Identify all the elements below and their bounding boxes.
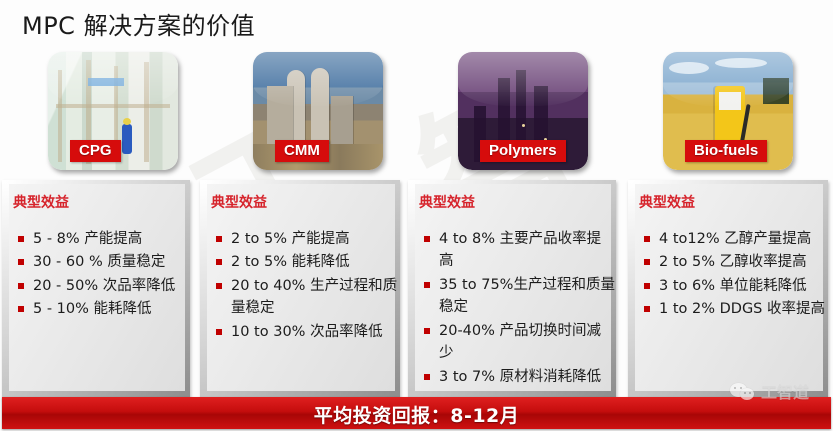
bullet-square-icon <box>216 236 222 242</box>
card-label-polymers: Polymers <box>480 140 566 162</box>
list-item: 10 to 30% 次品率降低 <box>209 321 399 343</box>
list-item: 20-40% 产品切换时间减少 <box>417 320 615 365</box>
industry-card-polymers[interactable]: Polymers <box>458 52 588 170</box>
panel-heading: 典型效益 <box>419 192 475 212</box>
benefit-list: 4 to 8% 主要产品收率提高 35 to 75%生产过程和质量稳定 20-4… <box>417 228 615 389</box>
list-item: 4 to12% 乙醇产量提高 <box>637 228 827 250</box>
list-item-label: 2 to 5% 能耗降低 <box>231 254 350 270</box>
bullet-square-icon <box>216 259 222 265</box>
list-item-label: 2 to 5% 产能提高 <box>231 231 350 247</box>
list-item-label: 3 to 6% 单位能耗降低 <box>659 278 807 294</box>
list-item-label: 4 to 8% 主要产品收率提高 <box>439 231 601 269</box>
benefit-list: 2 to 5% 产能提高 2 to 5% 能耗降低 20 to 40% 生产过程… <box>209 228 399 344</box>
list-item: 4 to 8% 主要产品收率提高 <box>417 228 615 273</box>
bullet-square-icon <box>644 283 650 289</box>
list-item-label: 4 to12% 乙醇产量提高 <box>659 231 811 247</box>
benefit-panel-cmm: 典型效益 2 to 5% 产能提高 2 to 5% 能耗降低 20 to 40%… <box>200 180 400 398</box>
card-label-biofuels: Bio-fuels <box>685 140 767 162</box>
bullet-square-icon <box>18 259 24 265</box>
bullet-square-icon <box>216 329 222 335</box>
list-item: 2 to 5% 能耗降低 <box>209 251 399 273</box>
industry-card-cmm[interactable]: CMM <box>253 52 383 170</box>
bullet-square-icon <box>644 236 650 242</box>
list-item: 2 to 5% 产能提高 <box>209 228 399 250</box>
list-item-label: 1 to 2% DDGS 收率提高 <box>659 301 825 317</box>
list-item: 1 to 2% DDGS 收率提高 <box>637 298 827 320</box>
list-item: 3 to 7% 原材料消耗降低 <box>417 366 615 388</box>
bullet-square-icon <box>18 283 24 289</box>
bullet-square-icon <box>424 282 430 288</box>
list-item: 5 - 8% 产能提高 <box>11 228 189 250</box>
industry-card-biofuels[interactable]: Bio-fuels <box>663 52 793 170</box>
wechat-credit-label: 工智道 <box>761 379 809 403</box>
list-item-label: 10 to 30% 次品率降低 <box>231 324 383 340</box>
bullet-square-icon <box>18 306 24 312</box>
benefit-list: 5 - 8% 产能提高 30 - 60 % 质量稳定 20 - 50% 次品率降… <box>11 228 189 322</box>
panel-heading: 典型效益 <box>211 192 267 212</box>
benefit-panel-polymers: 典型效益 4 to 8% 主要产品收率提高 35 to 75%生产过程和质量稳定… <box>408 180 616 398</box>
list-item: 2 to 5% 乙醇收率提高 <box>637 251 827 273</box>
list-item-label: 20-40% 产品切换时间减少 <box>439 323 601 361</box>
list-item: 3 to 6% 单位能耗降低 <box>637 275 827 297</box>
roi-banner-text: 平均投资回报：8-12月 <box>2 401 831 428</box>
bullet-square-icon <box>424 328 430 334</box>
list-item-label: 5 - 8% 产能提高 <box>33 231 142 247</box>
benefit-panel-cpg: 典型效益 5 - 8% 产能提高 30 - 60 % 质量稳定 20 - 50%… <box>2 180 190 398</box>
list-item-label: 20 to 40% 生产过程和质量稳定 <box>231 278 397 316</box>
bullet-square-icon <box>216 283 222 289</box>
page-title: MPC 解决方案的价值 <box>22 6 255 41</box>
panel-heading: 典型效益 <box>639 192 695 212</box>
list-item: 20 to 40% 生产过程和质量稳定 <box>209 275 399 320</box>
list-item-label: 35 to 75%生产过程和质量稳定 <box>439 277 615 315</box>
slide-canvas: 工 智 MPC 解决方案的价值 CPG CMM <box>0 0 833 431</box>
list-item: 5 - 10% 能耗降低 <box>11 298 189 320</box>
benefit-panel-biofuels: 典型效益 4 to12% 乙醇产量提高 2 to 5% 乙醇收率提高 3 to … <box>628 180 828 398</box>
list-item-label: 20 - 50% 次品率降低 <box>33 278 175 294</box>
card-label-cpg: CPG <box>70 140 121 162</box>
list-item-label: 30 - 60 % 质量稳定 <box>33 254 165 270</box>
benefit-list: 4 to12% 乙醇产量提高 2 to 5% 乙醇收率提高 3 to 6% 单位… <box>637 228 827 322</box>
wechat-icon <box>730 381 756 401</box>
wechat-credit: 工智道 <box>730 379 809 403</box>
bullet-square-icon <box>644 259 650 265</box>
list-item-label: 5 - 10% 能耗降低 <box>33 301 152 317</box>
card-label-cmm: CMM <box>275 140 329 162</box>
list-item: 20 - 50% 次品率降低 <box>11 275 189 297</box>
roi-banner: 平均投资回报：8-12月 <box>2 397 831 429</box>
bullet-square-icon <box>424 236 430 242</box>
industry-card-cpg[interactable]: CPG <box>48 52 178 170</box>
list-item: 35 to 75%生产过程和质量稳定 <box>417 274 615 319</box>
bullet-square-icon <box>424 374 430 380</box>
list-item-label: 3 to 7% 原材料消耗降低 <box>439 369 601 385</box>
list-item-label: 2 to 5% 乙醇收率提高 <box>659 254 807 270</box>
panel-heading: 典型效益 <box>13 192 69 212</box>
list-item: 30 - 60 % 质量稳定 <box>11 251 189 273</box>
bullet-square-icon <box>644 306 650 312</box>
bullet-square-icon <box>18 236 24 242</box>
